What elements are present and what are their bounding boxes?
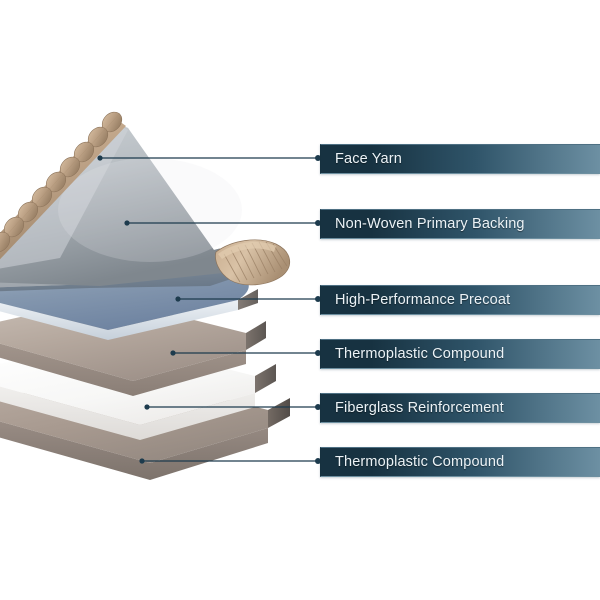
label-non-woven-primary-backing[interactable]: Non-Woven Primary Backing (320, 209, 600, 239)
layer-construction-diagram: Face Yarn Non-Woven Primary Backing High… (0, 0, 600, 600)
label-non-woven-primary-backing-text: Non-Woven Primary Backing (321, 216, 525, 232)
label-face-yarn[interactable]: Face Yarn (320, 144, 600, 174)
label-thermoplastic-compound-upper-text: Thermoplastic Compound (321, 346, 504, 362)
label-column: Face Yarn Non-Woven Primary Backing High… (320, 0, 600, 600)
label-fiberglass-reinforcement[interactable]: Fiberglass Reinforcement (320, 393, 600, 423)
label-high-performance-precoat-text: High-Performance Precoat (321, 292, 510, 308)
carpet-cutaway-illustration (0, 0, 330, 600)
label-thermoplastic-compound-lower[interactable]: Thermoplastic Compound (320, 447, 600, 477)
label-thermoplastic-compound-lower-text: Thermoplastic Compound (321, 454, 504, 470)
label-fiberglass-reinforcement-text: Fiberglass Reinforcement (321, 400, 504, 416)
label-high-performance-precoat[interactable]: High-Performance Precoat (320, 285, 600, 315)
label-face-yarn-text: Face Yarn (321, 151, 402, 167)
label-thermoplastic-compound-upper[interactable]: Thermoplastic Compound (320, 339, 600, 369)
